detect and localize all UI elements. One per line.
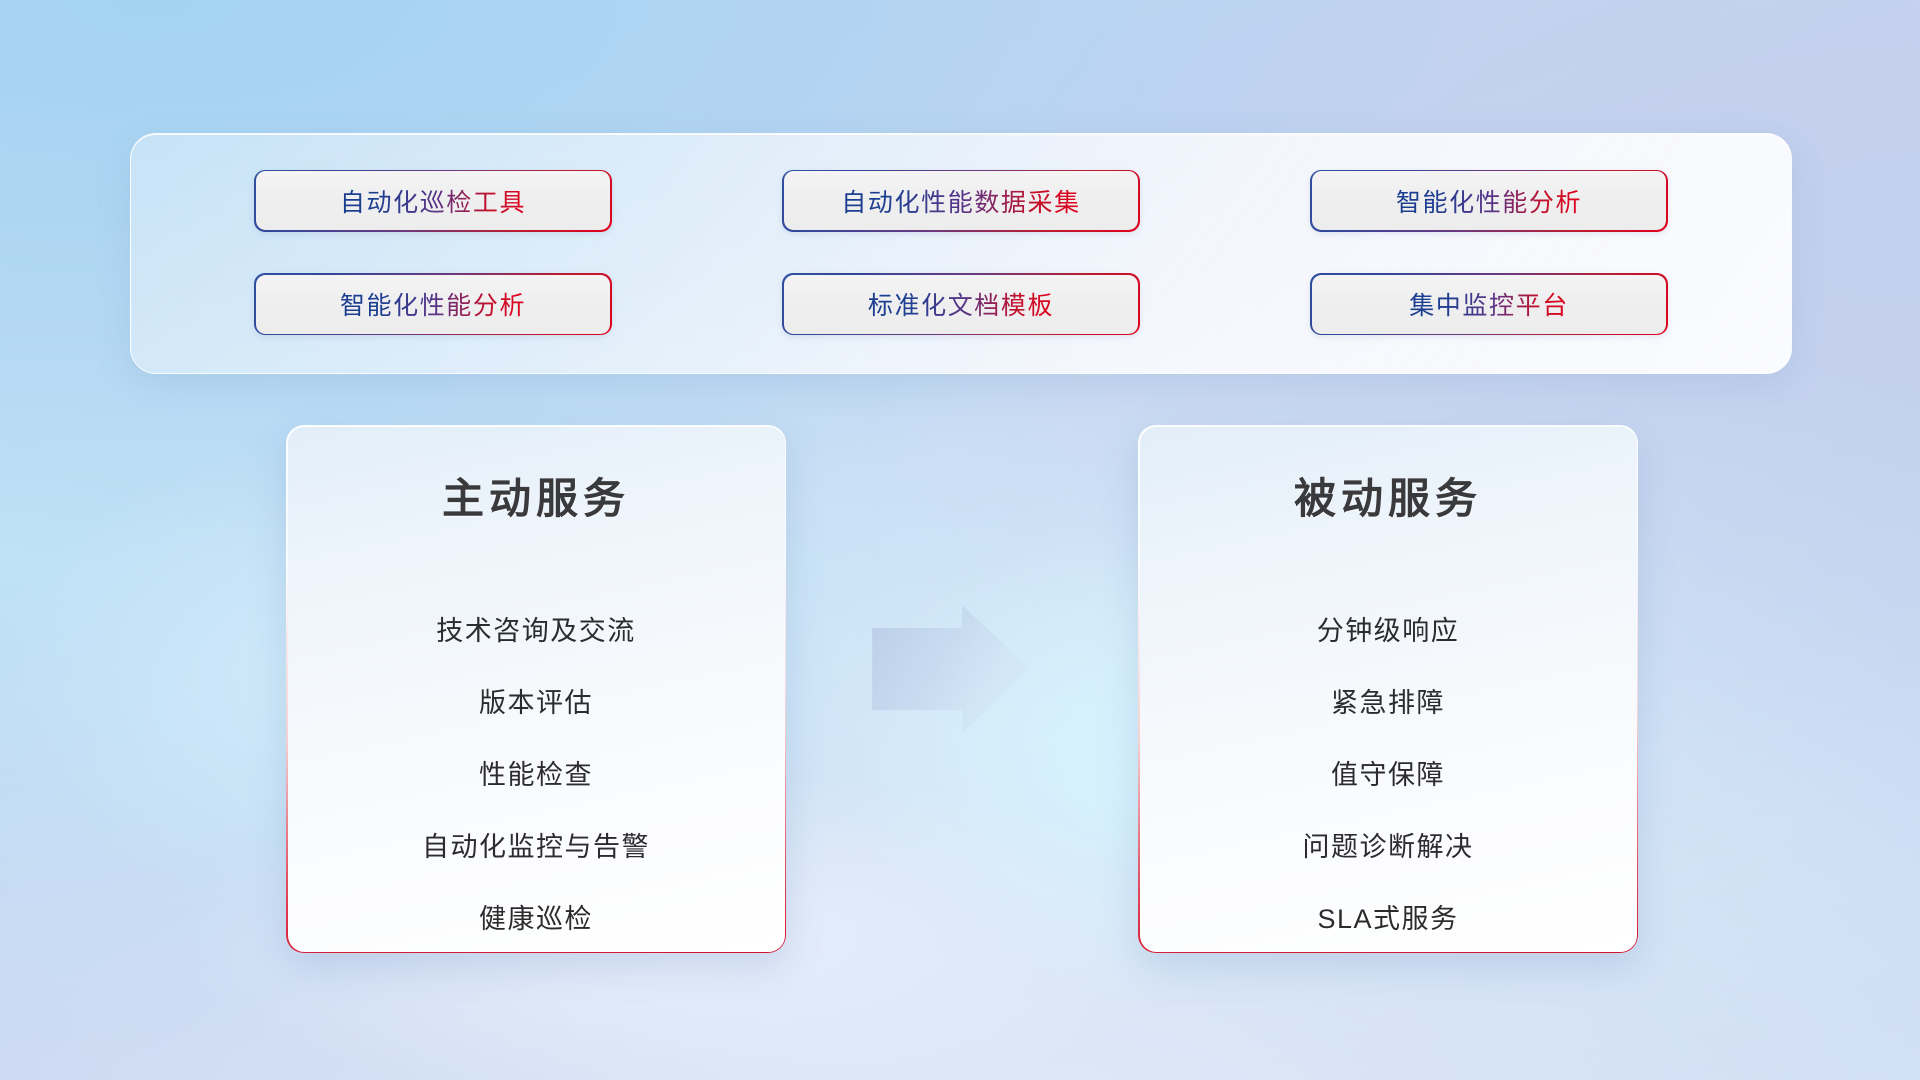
capability-pill-1[interactable]: 自动化巡检工具 bbox=[254, 170, 612, 232]
capability-pill-4[interactable]: 智能化性能分析 bbox=[254, 273, 612, 335]
reactive-service-card[interactable]: 被动服务 分钟级响应 紧急排障 值守保障 问题诊断解决 SLA式服务 bbox=[1138, 425, 1638, 953]
list-item: 问题诊断解决 bbox=[1303, 809, 1474, 881]
list-item: 版本评估 bbox=[479, 665, 593, 737]
capability-grid: 自动化巡检工具 自动化性能数据采集 智能化性能分析 智能化性能分析 bbox=[131, 134, 1791, 373]
reactive-service-list: 分钟级响应 紧急排障 值守保障 问题诊断解决 SLA式服务 bbox=[1140, 593, 1637, 952]
proactive-service-card-body: 主动服务 技术咨询及交流 版本评估 性能检查 自动化监控与告警 健康巡检 bbox=[288, 427, 785, 952]
reactive-service-title: 被动服务 bbox=[1294, 465, 1482, 526]
list-item: 技术咨询及交流 bbox=[436, 593, 636, 665]
capability-pill-4-body: 智能化性能分析 bbox=[256, 275, 611, 334]
list-item: 紧急排障 bbox=[1331, 665, 1445, 737]
proactive-service-list: 技术咨询及交流 版本评估 性能检查 自动化监控与告警 健康巡检 bbox=[288, 593, 785, 952]
list-item: 健康巡检 bbox=[479, 881, 593, 952]
list-item: 自动化监控与告警 bbox=[422, 809, 650, 881]
list-item: SLA式服务 bbox=[1317, 881, 1458, 952]
capability-pill-3[interactable]: 智能化性能分析 bbox=[1310, 170, 1668, 232]
capability-pill-3-label: 智能化性能分析 bbox=[1396, 183, 1582, 219]
capability-pill-5-label: 标准化文档模板 bbox=[868, 286, 1054, 322]
capability-pill-2[interactable]: 自动化性能数据采集 bbox=[782, 170, 1140, 232]
reactive-service-card-body: 被动服务 分钟级响应 紧急排障 值守保障 问题诊断解决 SLA式服务 bbox=[1140, 427, 1637, 952]
capability-pill-6-label: 集中监控平台 bbox=[1409, 286, 1569, 322]
capability-panel: 自动化巡检工具 自动化性能数据采集 智能化性能分析 智能化性能分析 bbox=[130, 133, 1792, 374]
capability-pill-6[interactable]: 集中监控平台 bbox=[1310, 273, 1668, 335]
capability-pill-6-body: 集中监控平台 bbox=[1312, 275, 1667, 334]
capability-pill-1-label: 自动化巡检工具 bbox=[340, 183, 526, 219]
list-item: 分钟级响应 bbox=[1317, 593, 1460, 665]
infographic-root: 自动化巡检工具 自动化性能数据采集 智能化性能分析 智能化性能分析 bbox=[0, 0, 1920, 1080]
list-item: 性能检查 bbox=[479, 737, 593, 809]
capability-pill-3-body: 智能化性能分析 bbox=[1312, 171, 1667, 230]
capability-pill-5[interactable]: 标准化文档模板 bbox=[782, 273, 1140, 335]
capability-pill-5-body: 标准化文档模板 bbox=[784, 275, 1139, 334]
capability-pill-2-body: 自动化性能数据采集 bbox=[784, 171, 1139, 230]
capability-pill-4-label: 智能化性能分析 bbox=[340, 286, 526, 322]
proactive-service-title: 主动服务 bbox=[442, 465, 630, 526]
capability-pill-2-label: 自动化性能数据采集 bbox=[841, 183, 1080, 219]
right-arrow-icon bbox=[872, 605, 1030, 733]
proactive-service-card[interactable]: 主动服务 技术咨询及交流 版本评估 性能检查 自动化监控与告警 健康巡检 bbox=[286, 425, 786, 953]
list-item: 值守保障 bbox=[1331, 737, 1445, 809]
capability-pill-1-body: 自动化巡检工具 bbox=[256, 171, 611, 230]
